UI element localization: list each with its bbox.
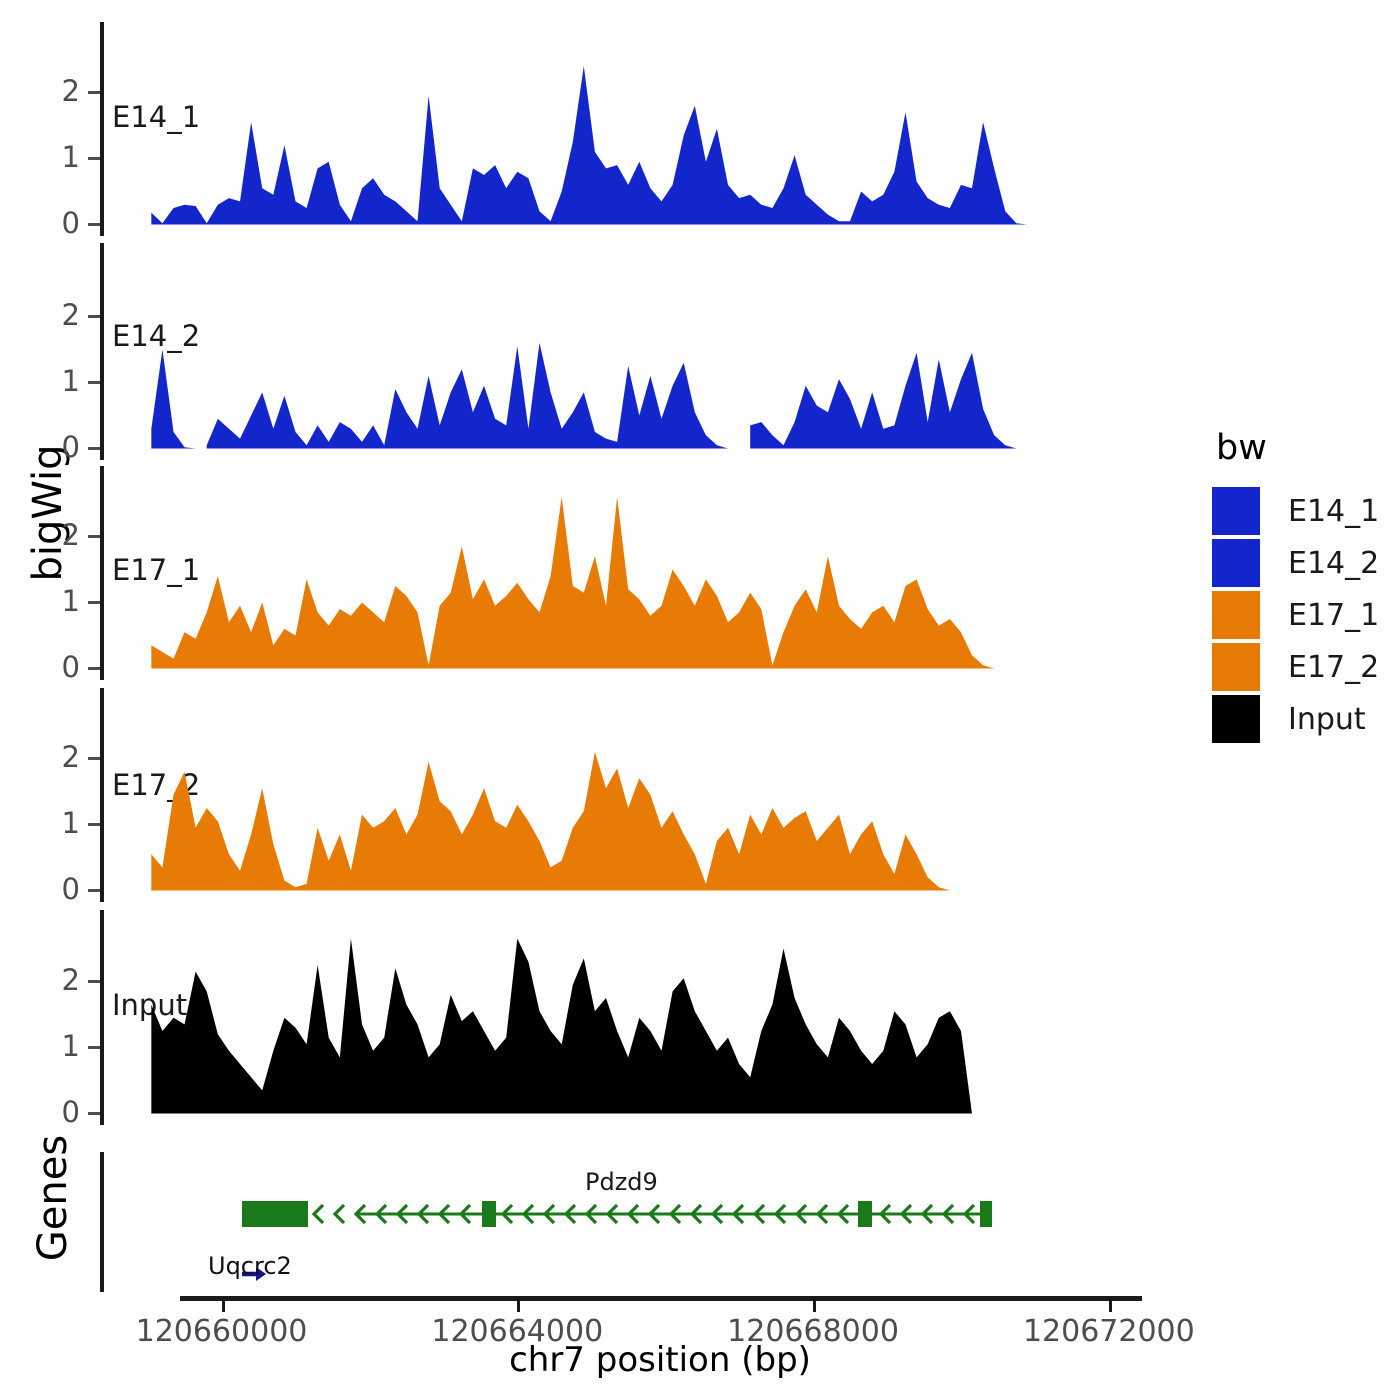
y-tick-label: 2: [36, 743, 80, 772]
genes-axis-line: [100, 1152, 104, 1292]
y-tick-label: 0: [36, 209, 80, 238]
legend-items: E14_1E14_2E17_1E17_2Input: [1212, 486, 1379, 744]
x-tick: [517, 1301, 520, 1312]
y-tick: [88, 157, 100, 160]
x-tick: [222, 1301, 225, 1312]
legend-item-e17_1[interactable]: E17_1: [1212, 590, 1379, 640]
legend-item-e14_1[interactable]: E14_1: [1212, 486, 1379, 536]
y-axis-line-e17_1: [100, 466, 104, 680]
signal-area-input: [118, 930, 1168, 1115]
y-tick-label: 2: [36, 301, 80, 330]
y-tick-label: 1: [36, 587, 80, 616]
y-tick-label: 0: [36, 433, 80, 462]
gene-label-pdzd9: Pdzd9: [585, 1168, 658, 1196]
y-axis-line-input: [100, 910, 104, 1125]
y-tick: [88, 667, 100, 670]
legend-label: E17_1: [1288, 598, 1379, 633]
legend-label: Input: [1288, 702, 1366, 737]
legend: bw E14_1E14_2E17_1E17_2Input: [1212, 428, 1379, 746]
x-tick-label: 120672000: [999, 1314, 1219, 1349]
signal-area-e14_1: [118, 41, 1168, 226]
legend-item-input[interactable]: Input: [1212, 694, 1379, 744]
x-tick: [1109, 1301, 1112, 1312]
y-tick-label: 1: [36, 809, 80, 838]
y-tick-label: 2: [36, 521, 80, 550]
legend-label: E14_1: [1288, 494, 1379, 529]
x-tick-label: 120668000: [703, 1314, 923, 1349]
y-tick: [88, 1112, 100, 1115]
legend-swatch-input: [1212, 695, 1260, 743]
y-axis-line-e14_2: [100, 243, 104, 460]
legend-item-e14_2[interactable]: E14_2: [1212, 538, 1379, 588]
y-tick: [88, 91, 100, 94]
legend-item-e17_2[interactable]: E17_2: [1212, 642, 1379, 692]
x-tick-label: 120664000: [407, 1314, 627, 1349]
y-tick: [88, 381, 100, 384]
y-tick: [88, 315, 100, 318]
y-axis-line-e17_2: [100, 688, 104, 902]
x-axis-line: [180, 1296, 1142, 1301]
signal-area-e17_1: [118, 485, 1168, 670]
y-tick-label: 0: [36, 653, 80, 682]
legend-label: E17_2: [1288, 650, 1379, 685]
legend-swatch-e14_2: [1212, 539, 1260, 587]
y-axis-title-genes: Genes: [30, 1103, 76, 1293]
y-tick: [88, 535, 100, 538]
y-tick-label: 2: [36, 966, 80, 995]
plot-root: bigWig Genes chr7 position (bp) 012E14_1…: [0, 0, 1400, 1400]
y-tick-label: 0: [36, 875, 80, 904]
y-tick: [88, 889, 100, 892]
x-tick: [813, 1301, 816, 1312]
y-tick-label: 1: [36, 367, 80, 396]
y-tick: [88, 601, 100, 604]
y-tick: [88, 980, 100, 983]
y-tick: [88, 447, 100, 450]
signal-area-e14_2: [118, 265, 1168, 450]
legend-label: E14_2: [1288, 546, 1379, 581]
y-axis-line-e14_1: [100, 22, 104, 236]
y-tick-label: 1: [36, 143, 80, 172]
legend-swatch-e17_1: [1212, 591, 1260, 639]
legend-swatch-e17_2: [1212, 643, 1260, 691]
y-tick: [88, 757, 100, 760]
legend-swatch-e14_1: [1212, 487, 1260, 535]
y-tick: [88, 823, 100, 826]
gene-label-uqcrc2: Uqcrc2: [208, 1252, 292, 1280]
y-tick-label: 2: [36, 77, 80, 106]
legend-title: bw: [1216, 428, 1379, 468]
y-tick-label: 1: [36, 1032, 80, 1061]
y-tick-label: 0: [36, 1098, 80, 1127]
y-tick: [88, 223, 100, 226]
x-tick-label: 120660000: [112, 1314, 332, 1349]
y-tick: [88, 1046, 100, 1049]
signal-area-e17_2: [118, 707, 1168, 892]
